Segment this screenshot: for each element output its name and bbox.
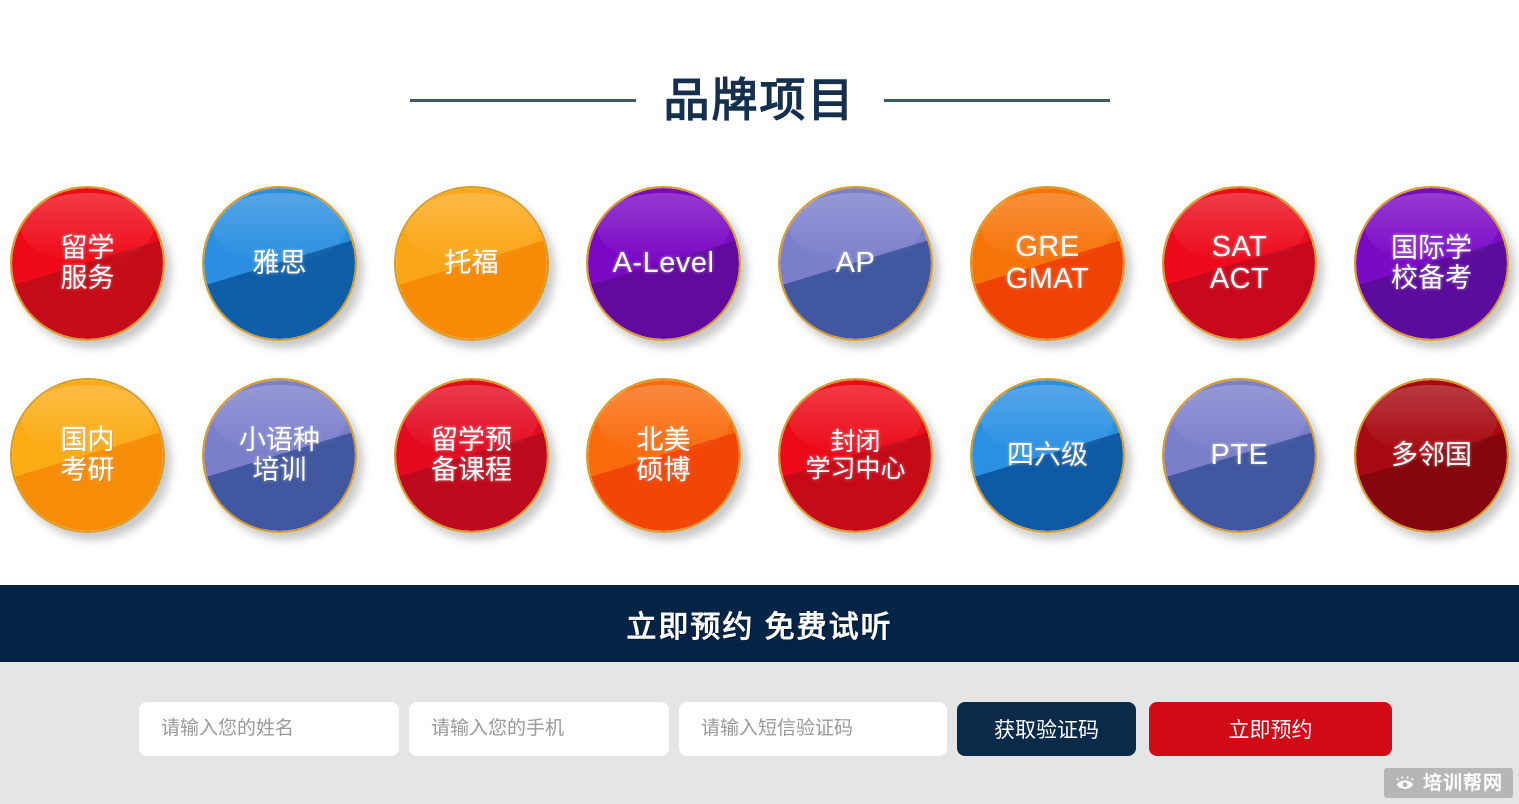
program-cell: A-Level <box>576 170 768 362</box>
program-circle[interactable]: 北美 硕博 <box>586 378 741 533</box>
program-circle[interactable]: 国内 考研 <box>10 378 165 533</box>
program-cell: 多邻国 <box>1344 362 1519 554</box>
program-circle[interactable]: 托福 <box>394 186 549 341</box>
program-cell: 国际学 校备考 <box>1344 170 1519 362</box>
program-cell: 国内 考研 <box>0 362 192 554</box>
program-label: 留学 服务 <box>55 234 121 292</box>
program-cell: 留学预 备课程 <box>384 362 576 554</box>
program-label: A-Level <box>607 248 721 279</box>
cta-banner-text: 立即预约 免费试听 <box>626 602 892 646</box>
program-label: 封闭 学习中心 <box>799 429 911 483</box>
program-circle[interactable]: 封闭 学习中心 <box>778 378 933 533</box>
program-circle[interactable]: 四六级 <box>970 378 1125 533</box>
program-cell: 北美 硕博 <box>576 362 768 554</box>
program-row-1: 留学 服务雅思托福A-LevelAPGRE GMATSAT ACT国际学 校备考 <box>0 170 1519 362</box>
sms-code-input[interactable] <box>679 702 947 756</box>
section-header: 品牌项目 <box>0 60 1519 140</box>
program-circle[interactable]: GRE GMAT <box>970 186 1125 341</box>
program-label: PTE <box>1205 440 1275 471</box>
program-circle[interactable]: 留学 服务 <box>10 186 165 341</box>
program-cell: 小语种 培训 <box>192 362 384 554</box>
program-row-2: 国内 考研小语种 培训留学预 备课程北美 硕博封闭 学习中心四六级PTE多邻国 <box>0 362 1519 554</box>
program-circle[interactable]: AP <box>778 186 933 341</box>
program-label: 国内 考研 <box>55 426 121 484</box>
program-cell: 托福 <box>384 170 576 362</box>
program-cell: 四六级 <box>960 362 1152 554</box>
program-circle[interactable]: SAT ACT <box>1162 186 1317 341</box>
page-title: 品牌项目 <box>664 77 856 123</box>
program-label: 北美 硕博 <box>631 426 697 484</box>
program-cell: AP <box>768 170 960 362</box>
program-circle[interactable]: 留学预 备课程 <box>394 378 549 533</box>
program-cell: PTE <box>1152 362 1344 554</box>
program-label: 四六级 <box>1001 441 1094 470</box>
program-label: 托福 <box>439 249 505 278</box>
brand-programs-page: 品牌项目 留学 服务雅思托福A-LevelAPGRE GMATSAT ACT国际… <box>0 0 1519 804</box>
program-cell: 封闭 学习中心 <box>768 362 960 554</box>
program-label: 多邻国 <box>1385 441 1478 470</box>
phone-input[interactable] <box>409 702 669 756</box>
submit-booking-button[interactable]: 立即预约 <box>1149 702 1392 756</box>
program-circle[interactable]: 国际学 校备考 <box>1354 186 1509 341</box>
booking-form: 获取验证码 立即预约 <box>139 702 1392 756</box>
program-label: SAT ACT <box>1204 232 1276 295</box>
booking-form-strip: 获取验证码 立即预约 <box>0 662 1519 804</box>
header-rule-left <box>410 99 636 102</box>
program-grid: 留学 服务雅思托福A-LevelAPGRE GMATSAT ACT国际学 校备考… <box>0 170 1519 570</box>
cta-banner: 立即预约 免费试听 <box>0 585 1519 662</box>
program-label: 小语种 培训 <box>233 426 326 484</box>
program-circle[interactable]: A-Level <box>586 186 741 341</box>
program-circle[interactable]: 多邻国 <box>1354 378 1509 533</box>
watermark-text: 培训帮网 <box>1423 774 1503 793</box>
program-circle[interactable]: 小语种 培训 <box>202 378 357 533</box>
eye-sun-icon <box>1394 772 1416 794</box>
program-cell: 雅思 <box>192 170 384 362</box>
program-label: 国际学 校备考 <box>1385 234 1478 292</box>
get-sms-code-button[interactable]: 获取验证码 <box>957 702 1136 756</box>
program-cell: 留学 服务 <box>0 170 192 362</box>
program-cell: GRE GMAT <box>960 170 1152 362</box>
program-label: GRE GMAT <box>1000 232 1096 295</box>
program-circle[interactable]: 雅思 <box>202 186 357 341</box>
program-label: 雅思 <box>247 249 313 278</box>
site-watermark: 培训帮网 <box>1384 768 1513 798</box>
program-label: AP <box>830 248 882 279</box>
program-cell: SAT ACT <box>1152 170 1344 362</box>
name-input[interactable] <box>139 702 399 756</box>
program-circle[interactable]: PTE <box>1162 378 1317 533</box>
header-rule-right <box>884 99 1110 102</box>
program-label: 留学预 备课程 <box>425 426 518 484</box>
